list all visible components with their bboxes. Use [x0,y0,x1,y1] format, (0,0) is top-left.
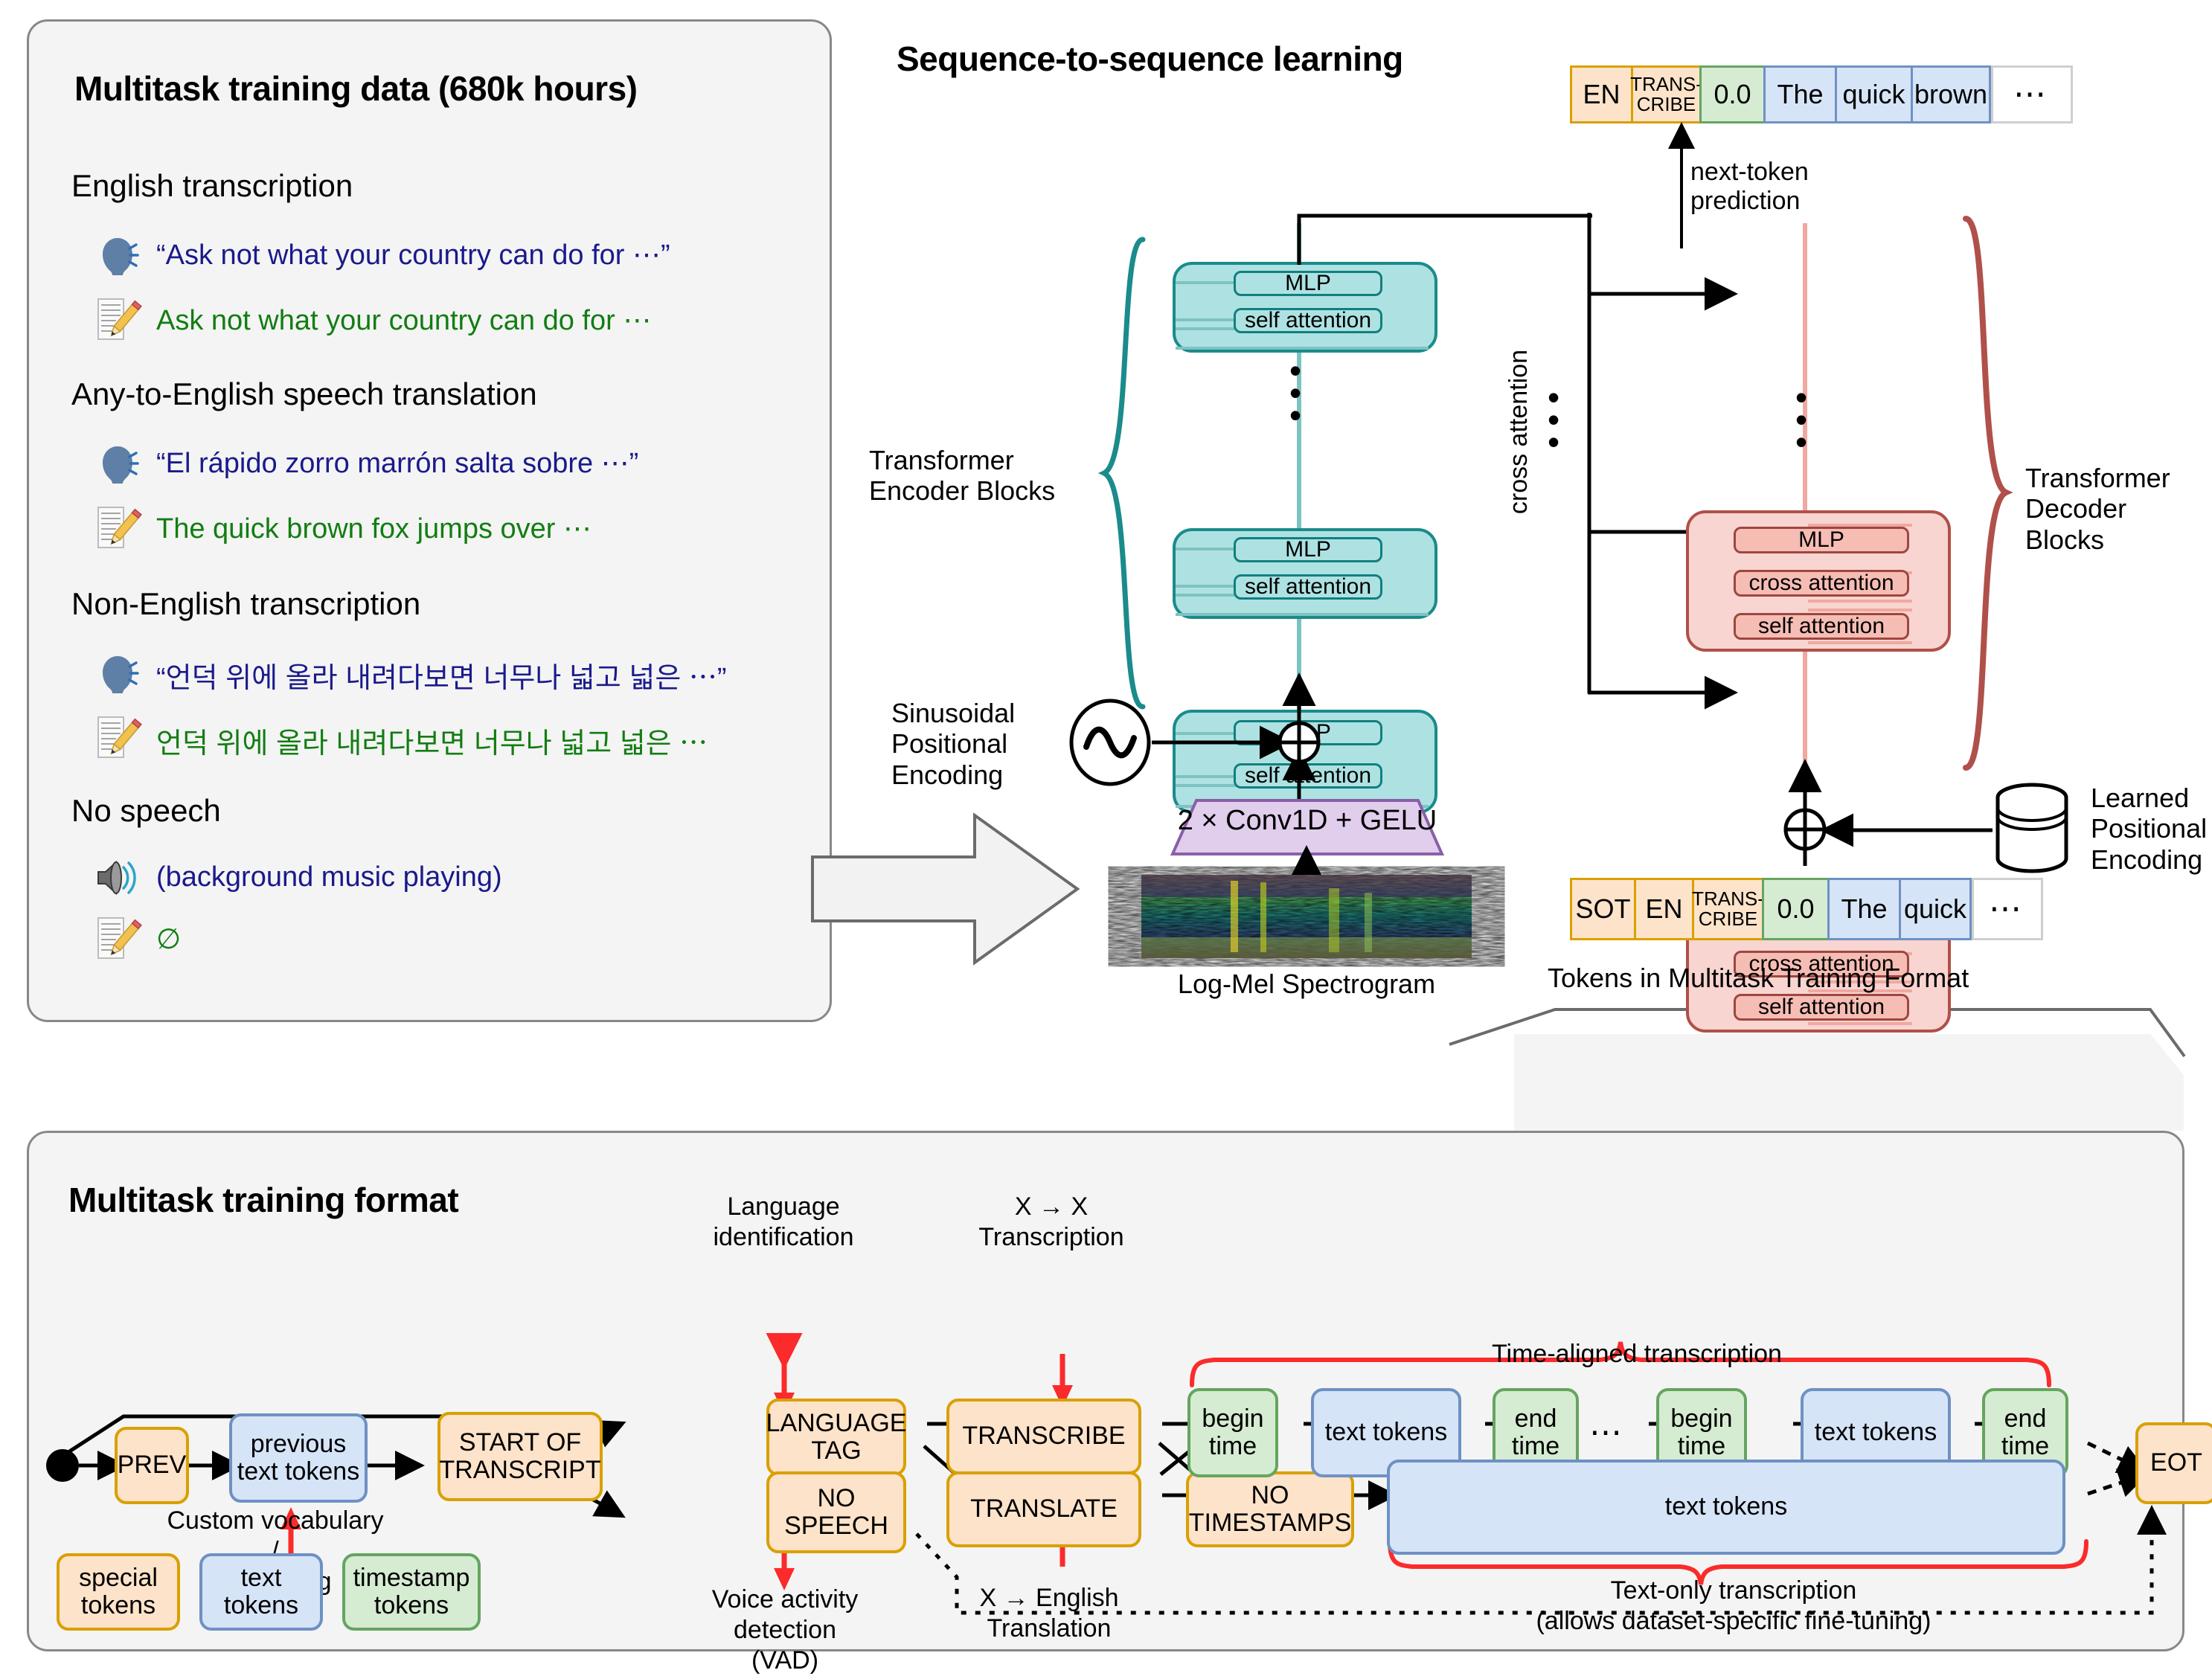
flow-node-language-tag[interactable]: LANGUAGE TAG [766,1399,906,1476]
output-token[interactable]: brown [1911,65,1991,123]
encoder-bracket-icon [1100,237,1152,710]
learned-positional-encoding-label: Learned Positional Encoding [2091,783,2207,875]
output-token-ellipsis: ⋯ [1991,65,2073,123]
sine-wave-icon [1065,698,1155,787]
flow-node-translate[interactable]: TRANSLATE [946,1471,1141,1547]
learned-pe-arrow-icon [1823,817,2001,847]
speaking-head-icon [95,235,140,277]
decoder-self-attention-sublayer: self attention [1734,994,1909,1021]
input-token[interactable]: quick [1899,878,1972,940]
speaking-head-icon [95,653,140,695]
section-heading-english-transcription: English transcription [71,168,353,204]
output-token[interactable]: EN [1570,65,1631,123]
seq2seq-title: Sequence-to-sequence learning [897,39,1403,79]
annotation-x-to-english-translation: X → English Translation [960,1583,1138,1644]
decoder-ellipsis: ••• [1795,387,1807,454]
example-audio-text-1: “Ask not what your country can do for ⋯” [156,238,670,272]
decoder-bracket-label: Transformer Decoder Blocks [2025,463,2212,555]
output-token[interactable]: quick [1835,65,1911,123]
memo-pencil-icon [95,916,137,961]
legend-item-text-tokens: text tokens [199,1553,323,1631]
input-token[interactable]: SOT [1570,878,1634,940]
legend-item-timestamp-tokens: timestamp tokens [342,1553,481,1631]
example-target-text-1: Ask not what your country can do for ⋯ [156,304,651,337]
tokens-caption: Tokens in Multitask Training Format [1548,963,1969,993]
example-audio-text-2: “El rápido zorro marrón salta sobre ⋯” [156,446,638,480]
decoder-block: MLP cross attention self attention [1686,510,1951,652]
encoder-mlp-sublayer: MLP [1234,537,1382,562]
memo-pencil-icon [95,716,137,760]
annotation-voice-activity-detection: Voice activity detection (VAD) [677,1585,893,1675]
decoder-mlp-sublayer: MLP [1734,527,1909,553]
flow-node-start-of-transcript[interactable]: START OF TRANSCRIPT [437,1412,603,1501]
encoder-bracket-label: Transformer Encoder Blocks [869,445,1055,507]
example-audio-text-4: (background music playing) [156,861,502,893]
flow-node-ellipsis: ⋯ [1589,1413,1626,1451]
cross-attention-label: cross attention [1504,350,1533,514]
example-target-text-3: 언덕 위에 올라 내려다보면 너무나 넓고 넓은 ⋯ [156,720,708,761]
section-heading-no-speech: No speech [71,793,221,829]
input-token-ellipsis: ⋯ [1972,878,2043,940]
section-heading-non-english-transcription: Non-English transcription [71,586,420,622]
output-token-strip: EN TRANS- CRIBE 0.0 The quick brown ⋯ [1570,65,2073,123]
memo-pencil-icon [95,298,137,342]
loudspeaker-icon [94,857,140,899]
memo-pencil-icon [95,506,137,550]
flow-node-text-tokens-long[interactable]: text tokens [1387,1460,2065,1555]
flow-node-begin-time[interactable]: begin time [1187,1388,1278,1477]
annotation-time-aligned-transcription: Time-aligned transcription [1399,1339,1875,1370]
flow-node-previous-text-tokens[interactable]: previous text tokens [229,1413,368,1503]
flow-node-no-timestamps[interactable]: NO TIMESTAMPS [1186,1471,1354,1547]
example-audio-text-3: “언덕 위에 올라 내려다보면 너무나 넓고 넓은 ⋯” [156,655,727,696]
decoder-bracket-icon [1960,216,2012,771]
cross-attention-arrow-icon [1588,283,1737,305]
encoder-mlp-sublayer: MLP [1234,271,1382,296]
conv1d-gelu-label: 2 × Conv1D + GELU [1162,805,1452,837]
input-token[interactable]: The [1827,878,1899,940]
left-panel-title: Multitask training data (680k hours) [74,68,637,109]
output-token[interactable]: The [1763,65,1835,123]
encoder-block: MLP self attention [1173,262,1437,353]
encoder-output-line [1280,208,1592,268]
output-token[interactable]: 0.0 [1699,65,1763,123]
example-target-text-2: The quick brown fox jumps over ⋯ [156,512,592,545]
decoder-self-attention-sublayer: self attention [1734,613,1909,640]
decoder-backbone-line [1801,223,1809,774]
database-cylinder-icon [1991,781,2073,878]
flow-node-no-speech[interactable]: NO SPEECH [766,1471,906,1553]
log-mel-spectrogram-image [1141,875,1472,958]
spectrogram-caption: Log-Mel Spectrogram [1141,969,1472,999]
flow-arrow-icon [810,796,1085,982]
speaking-head-icon [95,443,140,485]
cross-attention-ellipsis: ••• [1548,387,1559,454]
output-token[interactable]: TRANS- CRIBE [1631,65,1699,123]
next-token-prediction-label: next-token prediction [1690,158,1809,216]
section-heading-speech-translation: Any-to-English speech translation [71,376,537,412]
encoder-block: MLP self attention [1173,528,1437,619]
sinusoidal-positional-encoding-label: Sinusoidal Positional Encoding [891,698,1015,790]
annotation-text-only-transcription: Text-only transcription (allows dataset-… [1458,1576,2009,1637]
example-target-text-4: ∅ [156,922,181,956]
circled-plus-icon [1274,683,1326,809]
annotation-x-to-x-transcription: X → X Transcription [966,1192,1137,1253]
cross-attention-arrow-icon [1588,681,1737,704]
flow-node-prev[interactable]: PREV [115,1427,189,1504]
flow-node-eot[interactable]: EOT [2135,1422,2212,1504]
input-token-strip: SOT EN TRANS- CRIBE 0.0 The quick ⋯ [1570,878,2043,940]
flow-node-transcribe[interactable]: TRANSCRIBE [946,1399,1141,1474]
legend-item-special-tokens: special tokens [57,1553,180,1631]
annotation-language-identification: Language identification [683,1192,884,1253]
input-token[interactable]: TRANS- CRIBE [1692,878,1762,940]
input-token[interactable]: EN [1634,878,1692,940]
decoder-cross-attention-sublayer: cross attention [1734,570,1909,597]
encoder-ellipsis: ••• [1289,360,1301,427]
encoder-self-attention-sublayer: self attention [1234,574,1382,600]
input-token[interactable]: 0.0 [1762,878,1827,940]
encoder-self-attention-sublayer: self attention [1234,308,1382,333]
